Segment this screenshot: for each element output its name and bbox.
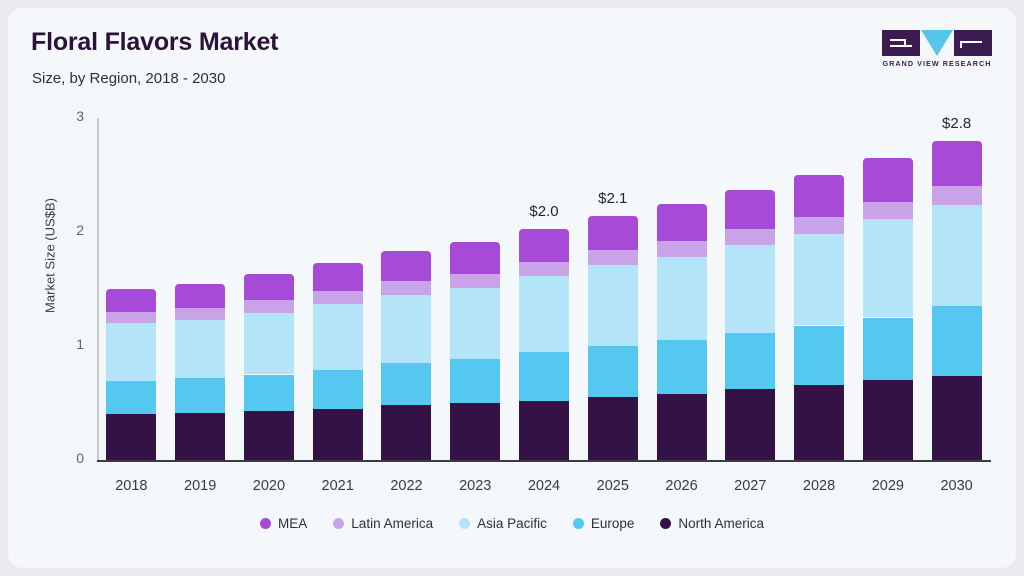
bar-segment[interactable]: [863, 219, 913, 317]
bar-segment[interactable]: [106, 323, 156, 381]
bar-segment[interactable]: [863, 318, 913, 381]
bar-segment[interactable]: [794, 326, 844, 385]
bar-segment[interactable]: [932, 376, 982, 460]
bar-segment[interactable]: [175, 320, 225, 378]
chart-legend: MEALatin AmericaAsia PacificEuropeNorth …: [8, 516, 1016, 531]
bar-segment[interactable]: [450, 359, 500, 403]
bar-value-label: $2.0: [529, 203, 558, 220]
x-axis-tick: 2025: [578, 478, 648, 494]
bar-segment[interactable]: [519, 276, 569, 351]
bar-segment[interactable]: [588, 250, 638, 265]
bar-segment[interactable]: [657, 340, 707, 394]
bar-group[interactable]: [175, 284, 225, 460]
y-axis-tick: 2: [38, 222, 84, 238]
legend-label: Latin America: [351, 516, 433, 531]
bar-group[interactable]: [450, 242, 500, 460]
bar-segment[interactable]: [657, 241, 707, 257]
bar-group[interactable]: [725, 190, 775, 460]
bar-segment[interactable]: [519, 352, 569, 401]
bar-segment[interactable]: [313, 291, 363, 304]
x-axis-tick: 2018: [96, 478, 166, 494]
x-axis-line: [97, 460, 991, 462]
legend-item[interactable]: North America: [660, 516, 764, 531]
bar-segment[interactable]: [725, 333, 775, 389]
bar-segment[interactable]: [313, 409, 363, 460]
x-axis-tick: 2028: [784, 478, 854, 494]
bar-segment[interactable]: [175, 284, 225, 308]
bar-segment[interactable]: [863, 202, 913, 219]
bar-segment[interactable]: [450, 242, 500, 274]
bar-segment[interactable]: [588, 216, 638, 250]
y-axis-tick: 3: [38, 108, 84, 124]
legend-label: Asia Pacific: [477, 516, 547, 531]
y-axis-tick: 1: [38, 336, 84, 352]
bar-segment[interactable]: [725, 389, 775, 460]
bar-value-label: $2.1: [598, 190, 627, 207]
bar-segment[interactable]: [106, 381, 156, 414]
bar-segment[interactable]: [794, 175, 844, 217]
y-axis-label: Market Size (US$B): [43, 156, 58, 356]
bar-segment[interactable]: [519, 229, 569, 262]
x-axis-tick: 2030: [922, 478, 992, 494]
bar-segment[interactable]: [450, 274, 500, 288]
bar-group[interactable]: $2.1: [588, 216, 638, 460]
bar-segment[interactable]: [450, 288, 500, 359]
legend-label: Europe: [591, 516, 635, 531]
bar-segment[interactable]: [794, 234, 844, 325]
x-axis-tick: 2022: [371, 478, 441, 494]
bar-segment[interactable]: [381, 405, 431, 460]
bar-segment[interactable]: [794, 217, 844, 234]
bar-group[interactable]: $2.0: [519, 229, 569, 460]
bar-segment[interactable]: [725, 245, 775, 334]
chart-card: Floral Flavors Market Size, by Region, 2…: [8, 8, 1016, 568]
y-axis-line: [97, 118, 99, 461]
x-axis-tick: 2024: [509, 478, 579, 494]
x-axis-tick: 2023: [440, 478, 510, 494]
legend-swatch-icon: [459, 518, 470, 529]
bar-group[interactable]: $2.8: [932, 141, 982, 460]
bar-segment[interactable]: [106, 312, 156, 323]
bar-segment[interactable]: [244, 411, 294, 460]
legend-swatch-icon: [573, 518, 584, 529]
x-axis-tick: 2029: [853, 478, 923, 494]
bar-group[interactable]: [657, 204, 707, 461]
bar-segment[interactable]: [519, 401, 569, 460]
bar-group[interactable]: [106, 289, 156, 460]
bar-segment[interactable]: [657, 394, 707, 460]
bar-group[interactable]: [794, 175, 844, 460]
bar-segment[interactable]: [932, 186, 982, 204]
bar-segment[interactable]: [381, 363, 431, 405]
bar-segment[interactable]: [450, 403, 500, 460]
bar-segment[interactable]: [313, 304, 363, 370]
legend-swatch-icon: [333, 518, 344, 529]
bar-segment[interactable]: [381, 281, 431, 295]
bar-segment[interactable]: [588, 397, 638, 460]
x-axis-tick: 2020: [234, 478, 304, 494]
legend-item[interactable]: MEA: [260, 516, 307, 531]
bar-segment[interactable]: [244, 375, 294, 411]
bar-segment[interactable]: [106, 414, 156, 460]
bar-group[interactable]: [381, 251, 431, 460]
bar-segment[interactable]: [725, 190, 775, 229]
bar-segment[interactable]: [175, 413, 225, 460]
bar-segment[interactable]: [657, 257, 707, 340]
y-axis-tick: 0: [38, 450, 84, 466]
stacked-bar-chart: Market Size (US$B) 0123 $2.0$2.1$2.8 201…: [8, 8, 1016, 568]
legend-item[interactable]: Asia Pacific: [459, 516, 547, 531]
x-axis-tick: 2027: [715, 478, 785, 494]
bar-segment[interactable]: [313, 263, 363, 292]
bar-segment[interactable]: [244, 274, 294, 300]
bar-segment[interactable]: [588, 346, 638, 397]
legend-swatch-icon: [260, 518, 271, 529]
bar-segment[interactable]: [863, 380, 913, 460]
bar-segment[interactable]: [175, 308, 225, 319]
legend-item[interactable]: Latin America: [333, 516, 433, 531]
legend-label: MEA: [278, 516, 307, 531]
legend-item[interactable]: Europe: [573, 516, 635, 531]
bar-segment[interactable]: [932, 306, 982, 376]
x-axis-tick: 2019: [165, 478, 235, 494]
bar-segment[interactable]: [106, 289, 156, 312]
bar-group[interactable]: [313, 263, 363, 460]
bar-segment[interactable]: [519, 262, 569, 277]
bar-segment[interactable]: [863, 158, 913, 202]
bar-segment[interactable]: [244, 300, 294, 313]
bar-value-label: $2.8: [942, 115, 971, 132]
bar-segment[interactable]: [794, 385, 844, 460]
bar-segment[interactable]: [175, 378, 225, 413]
x-axis-tick: 2026: [647, 478, 717, 494]
bar-segment[interactable]: [657, 204, 707, 242]
bar-segment[interactable]: [932, 205, 982, 306]
bar-segment[interactable]: [932, 141, 982, 187]
bar-group[interactable]: [244, 274, 294, 460]
bar-segment[interactable]: [725, 229, 775, 245]
bar-segment[interactable]: [588, 265, 638, 346]
x-axis-tick: 2021: [303, 478, 373, 494]
bar-segment[interactable]: [313, 370, 363, 409]
bar-group[interactable]: [863, 158, 913, 460]
bar-segment[interactable]: [381, 251, 431, 281]
bar-segment[interactable]: [244, 313, 294, 375]
legend-swatch-icon: [660, 518, 671, 529]
legend-label: North America: [678, 516, 764, 531]
bar-segment[interactable]: [381, 295, 431, 363]
